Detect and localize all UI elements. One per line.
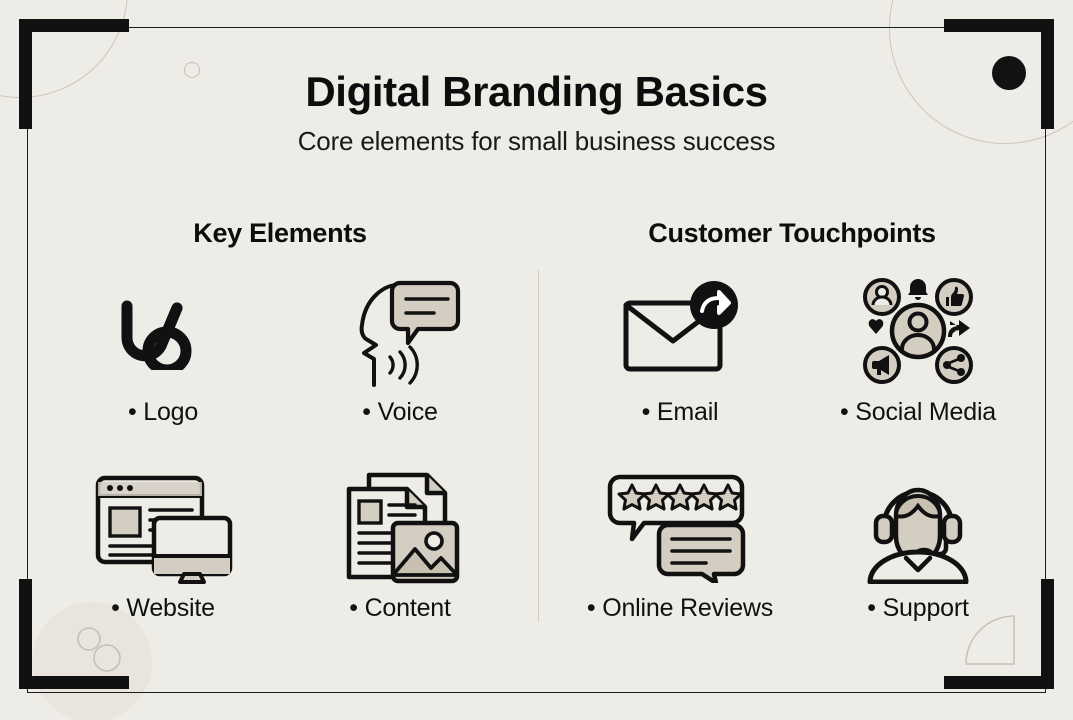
corner-bracket-bottom-right <box>944 676 1054 689</box>
column-heading-key-elements: Key Elements <box>70 218 490 249</box>
headset-agent-icon <box>798 468 1038 586</box>
browser-monitor-icon <box>43 468 283 586</box>
item-label: • Social Media <box>798 398 1038 427</box>
corner-bracket-bottom-left <box>19 676 129 689</box>
item-online-reviews[interactable]: • Online Reviews <box>560 468 800 623</box>
header-block: Digital Branding Basics Core elements fo… <box>0 70 1073 157</box>
item-social-media[interactable]: • Social Media <box>798 272 1038 427</box>
column-heading-customer-touchpoints: Customer Touchpoints <box>582 218 1002 249</box>
page-subtitle: Core elements for small business success <box>0 126 1073 157</box>
speaking-head-icon <box>280 272 520 390</box>
logo-monogram-icon <box>43 272 283 390</box>
page-title: Digital Branding Basics <box>0 70 1073 115</box>
item-logo[interactable]: • Logo <box>43 272 283 427</box>
envelope-share-icon <box>560 272 800 390</box>
item-email[interactable]: • Email <box>560 272 800 427</box>
item-label: • Email <box>560 398 800 427</box>
item-label: • Online Reviews <box>560 594 800 623</box>
item-label: • Website <box>43 594 283 623</box>
corner-bracket-top-right <box>944 19 1054 32</box>
corner-bracket-bottom-right <box>1041 579 1054 689</box>
item-label: • Support <box>798 594 1038 623</box>
item-label: • Content <box>280 594 520 623</box>
infographic-canvas: Digital Branding Basics Core elements fo… <box>0 0 1073 720</box>
item-support[interactable]: • Support <box>798 468 1038 623</box>
star-rating-chat-icon <box>560 468 800 586</box>
item-content[interactable]: • Content <box>280 468 520 623</box>
item-voice[interactable]: • Voice <box>280 272 520 427</box>
item-label: • Logo <box>43 398 283 427</box>
column-divider <box>538 270 539 622</box>
corner-bracket-top-left <box>19 19 129 32</box>
item-label: • Voice <box>280 398 520 427</box>
documents-image-icon <box>280 468 520 586</box>
corner-bracket-bottom-left <box>19 579 32 689</box>
social-network-icon <box>798 272 1038 390</box>
item-website[interactable]: • Website <box>43 468 283 623</box>
